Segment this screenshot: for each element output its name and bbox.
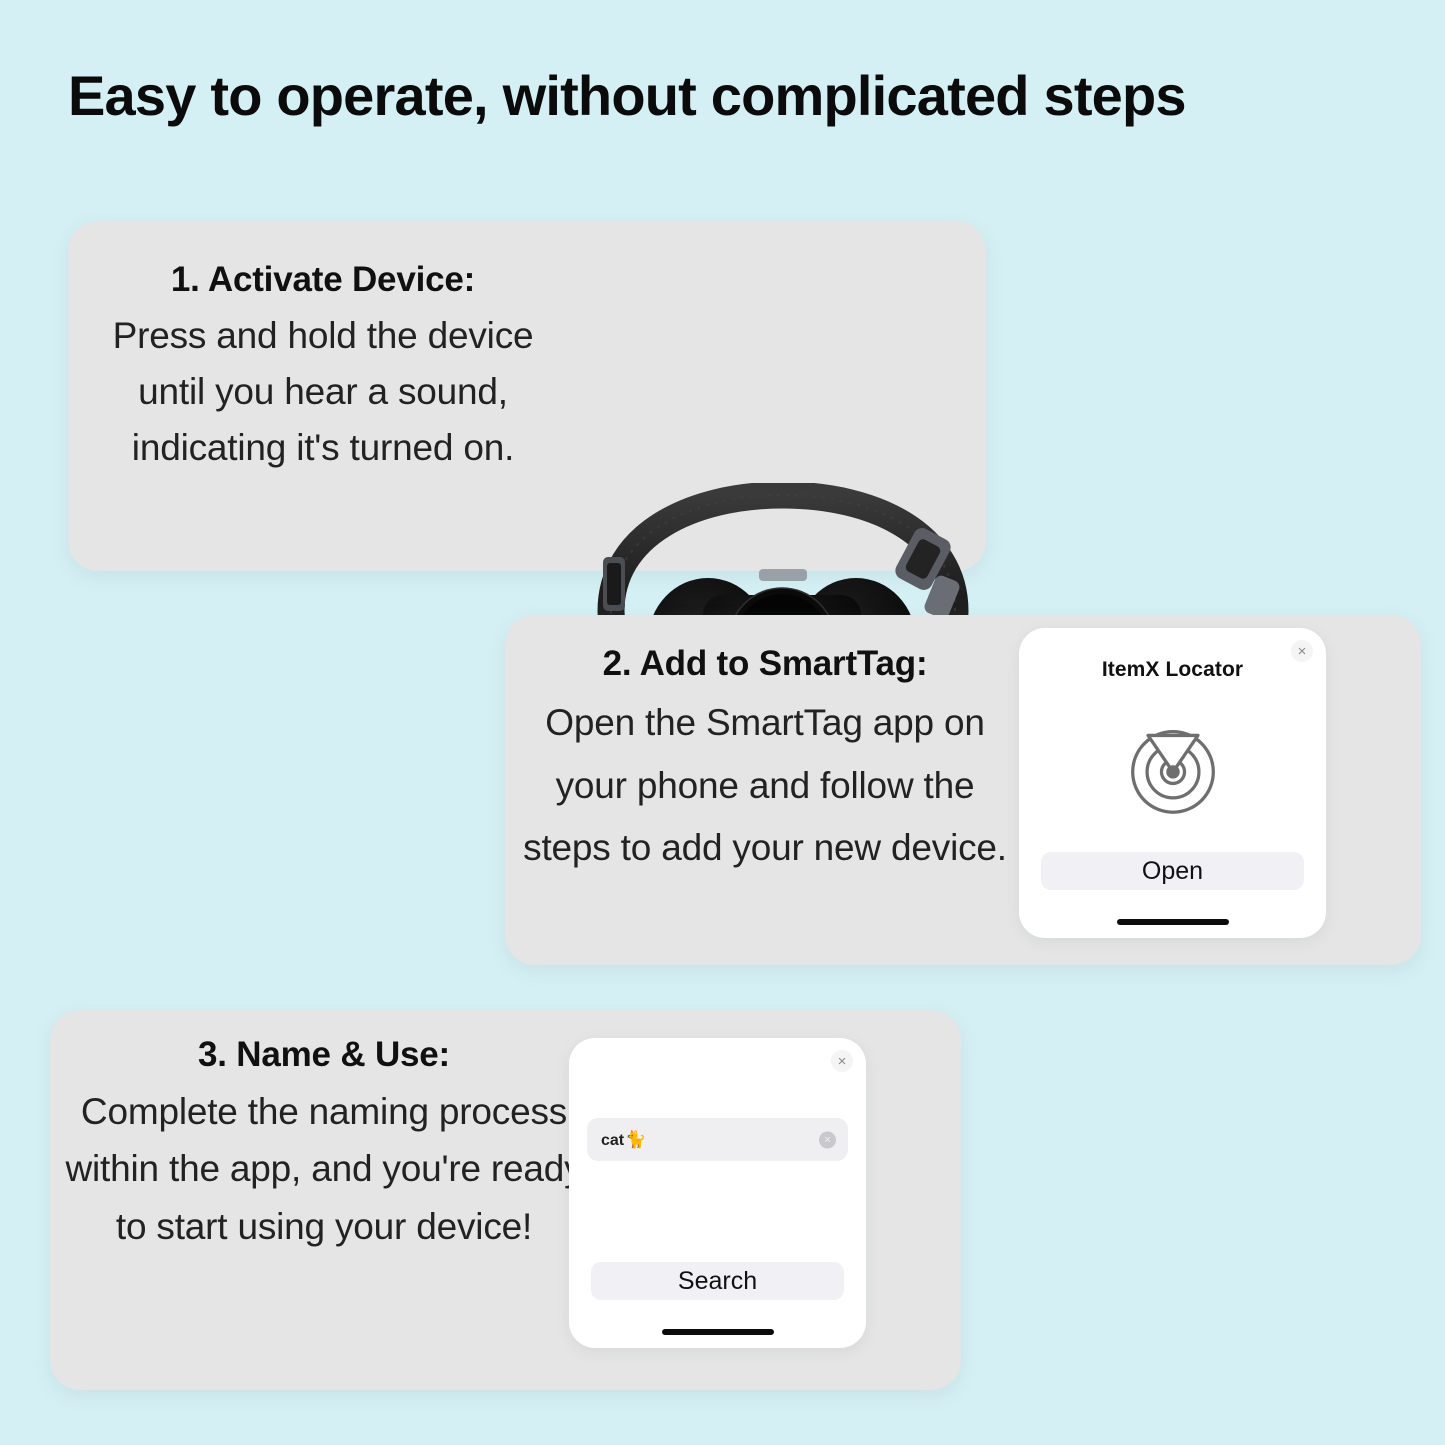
phone-mockup-locator: × ItemX Locator Open (1019, 628, 1326, 938)
close-icon[interactable]: × (831, 1050, 853, 1072)
search-input-value: cat 🐈 (601, 1130, 646, 1150)
cat-emoji: 🐈 (625, 1130, 646, 1150)
search-input[interactable]: cat 🐈 × (587, 1118, 848, 1161)
radar-icon (1019, 722, 1326, 818)
search-text: cat (601, 1132, 624, 1150)
step-3-text: 3. Name & Use: Complete the naming proce… (64, 1034, 584, 1256)
step-2-text: 2. Add to SmartTag: Open the SmartTag ap… (515, 643, 1015, 880)
clear-input-icon[interactable]: × (819, 1131, 836, 1148)
step-3-body: Complete the naming process within the a… (64, 1083, 584, 1256)
step-1-text: 1. Activate Device: Press and hold the d… (98, 259, 548, 476)
step-1-title: 1. Activate Device: (98, 259, 548, 302)
home-indicator (1117, 919, 1229, 925)
step-1-body: Press and hold the device until you hear… (98, 308, 548, 477)
step-card-1: 1. Activate Device: Press and hold the d… (68, 221, 986, 571)
open-button[interactable]: Open (1041, 852, 1304, 890)
phone-mockup-search: × cat 🐈 × Search (569, 1038, 866, 1348)
step-3-title: 3. Name & Use: (64, 1034, 584, 1077)
page-title: Easy to operate, without complicated ste… (68, 63, 1388, 128)
infographic-page: Easy to operate, without complicated ste… (0, 0, 1445, 1445)
search-button[interactable]: Search (591, 1262, 844, 1300)
app-title: ItemX Locator (1019, 658, 1326, 682)
home-indicator (662, 1329, 774, 1335)
step-2-body: Open the SmartTag app on your phone and … (515, 692, 1015, 881)
step-2-title: 2. Add to SmartTag: (515, 643, 1015, 686)
